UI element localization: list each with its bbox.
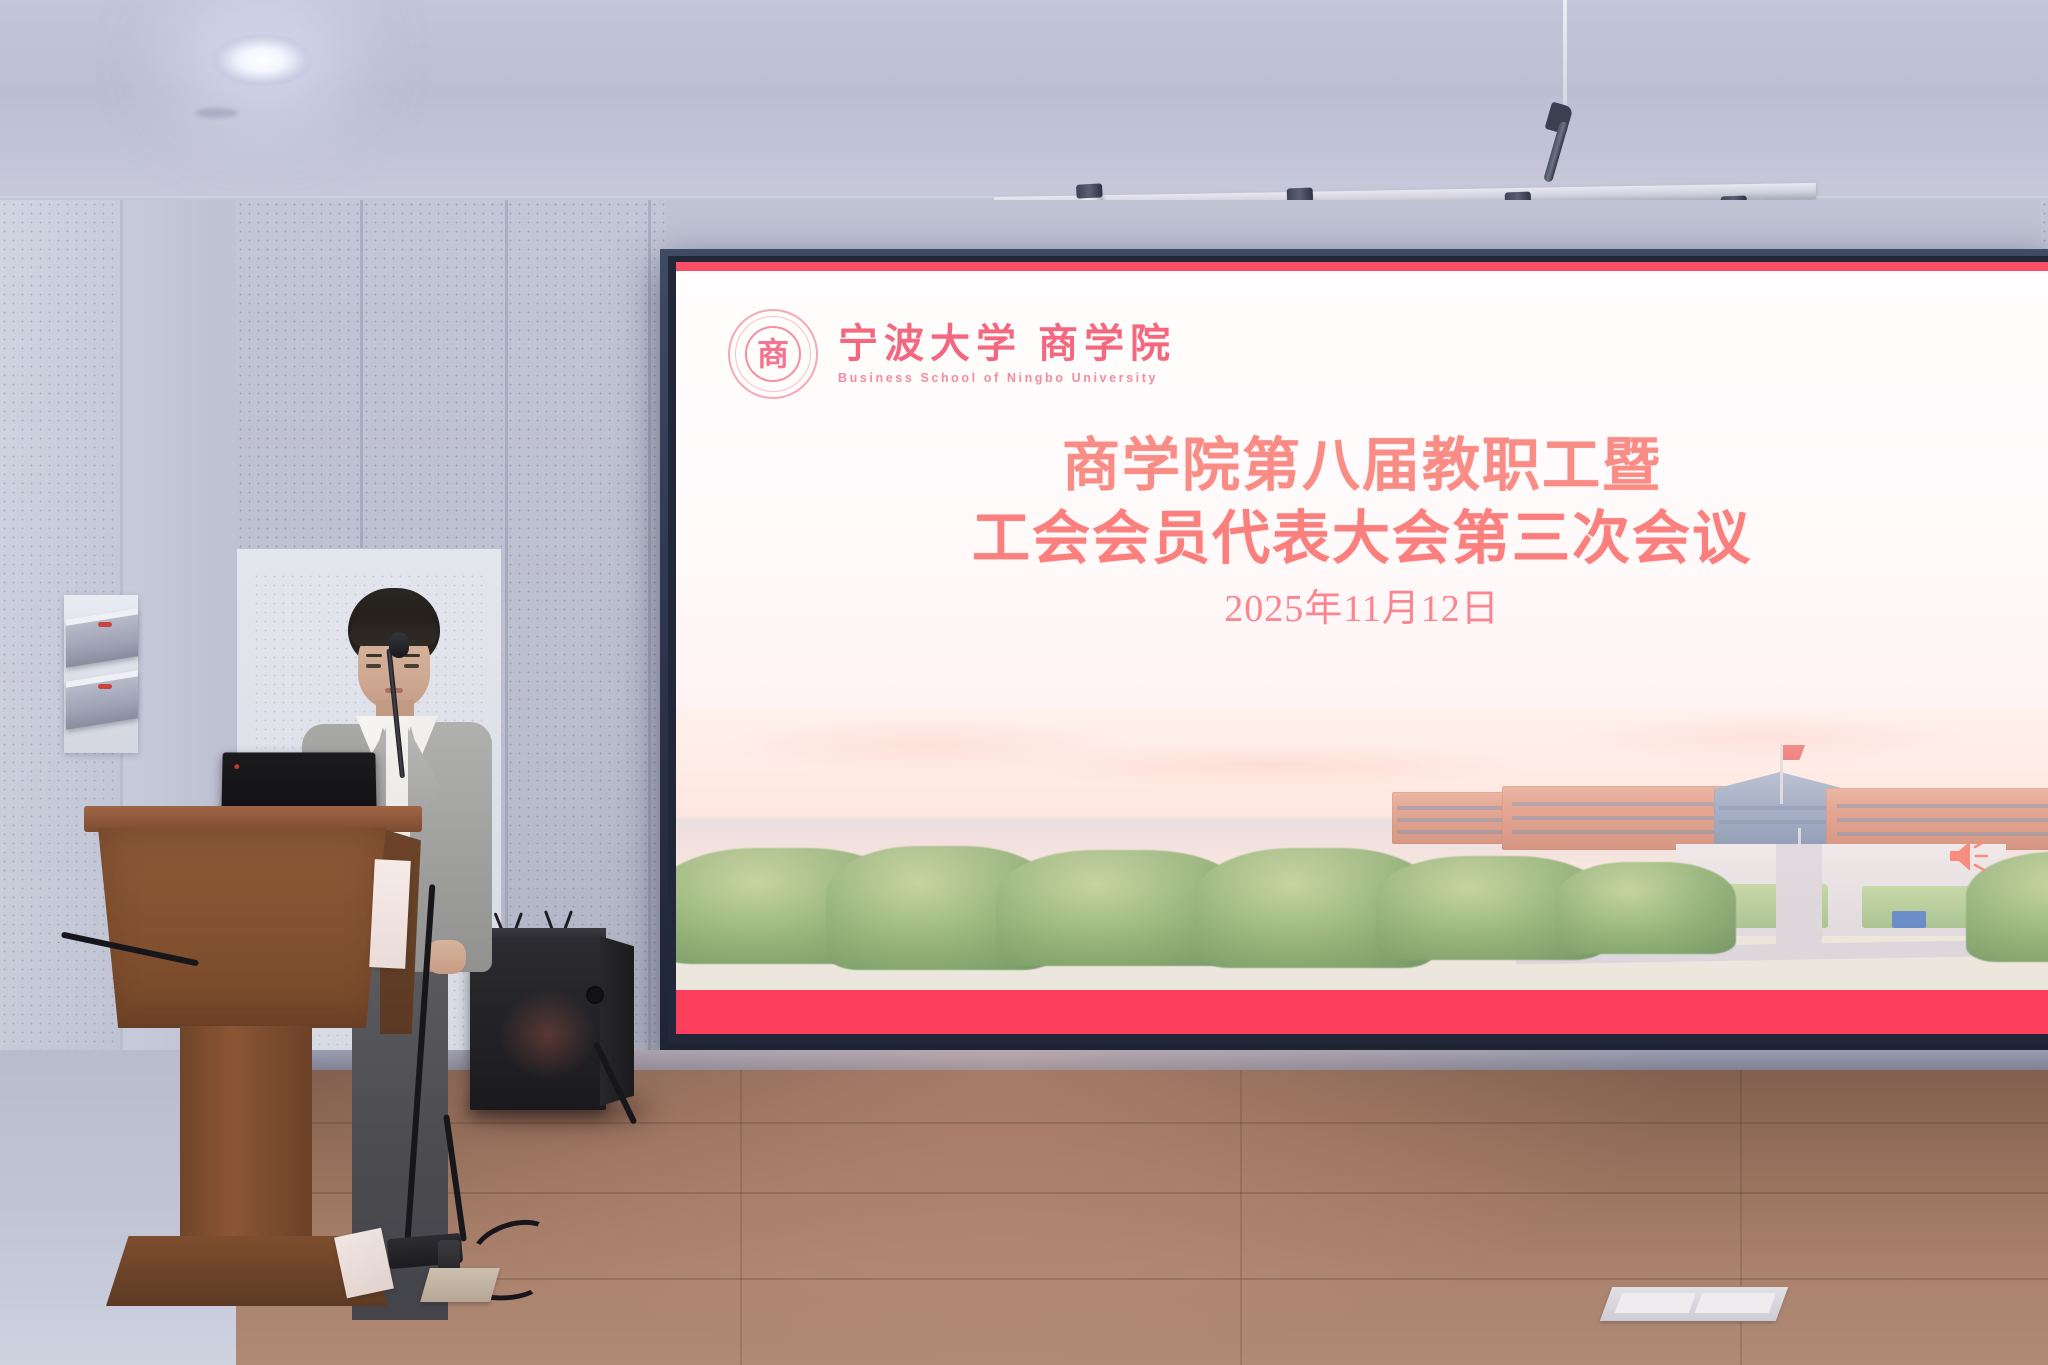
slide-date: 2025年11月12日 <box>676 577 2048 632</box>
seal-character: 商 <box>745 326 801 382</box>
slide-top-bar <box>676 262 2048 271</box>
school-seal-icon: 商 <box>728 309 818 399</box>
presenter-hand <box>426 940 466 974</box>
slide: 商 宁波大学 商学院 Business School of Ningbo Uni… <box>676 262 2048 1034</box>
school-logo: 商 宁波大学 商学院 Business School of Ningbo Uni… <box>728 309 1176 399</box>
brochure-label-bottom <box>98 684 112 689</box>
screenshot-root: 商 宁波大学 商学院 Business School of Ningbo Uni… <box>0 0 2048 1365</box>
slide-body: 商 宁波大学 商学院 Business School of Ningbo Uni… <box>676 271 2048 990</box>
laptop-logo-dot <box>234 764 239 769</box>
logo-text-block: 宁波大学 商学院 Business School of Ningbo Unive… <box>838 324 1176 385</box>
slide-title-line-1: 商学院第八届教职工暨 <box>1062 433 1662 498</box>
ceiling-boom-wire <box>1563 0 1567 112</box>
podium-front-panel <box>98 828 386 1028</box>
slide-bottom-bar <box>676 990 2048 1034</box>
brochure-label-top <box>98 622 112 627</box>
campus-photo <box>676 708 2048 990</box>
logo-english-name: Business School of Ningbo University <box>838 371 1176 385</box>
floor-cable-access-panel[interactable] <box>1600 1287 1788 1321</box>
presenter-paper <box>369 859 411 969</box>
speaker-icon[interactable] <box>1946 834 1990 878</box>
podium-stem <box>180 1026 312 1244</box>
microphone-icon <box>389 632 409 658</box>
presentation-screen[interactable]: 商 宁波大学 商学院 Business School of Ningbo Uni… <box>676 262 2048 1034</box>
slide-title: 商学院第八届教职工暨 工会会员代表大会第三次会议 <box>676 429 2048 575</box>
slide-title-line-2: 工会会员代表大会第三次会议 <box>676 502 2048 575</box>
subwoofer-glow <box>500 990 596 1080</box>
ceiling-downlight-shadow <box>196 108 238 118</box>
photo-overlay-wash <box>676 708 2048 990</box>
ceiling-downlight-icon <box>212 34 312 86</box>
panel-seam-3 <box>648 200 651 1060</box>
ceiling <box>0 0 2048 205</box>
floor-outlet-box[interactable] <box>420 1268 500 1302</box>
logo-chinese-name: 宁波大学 商学院 <box>838 324 1176 364</box>
